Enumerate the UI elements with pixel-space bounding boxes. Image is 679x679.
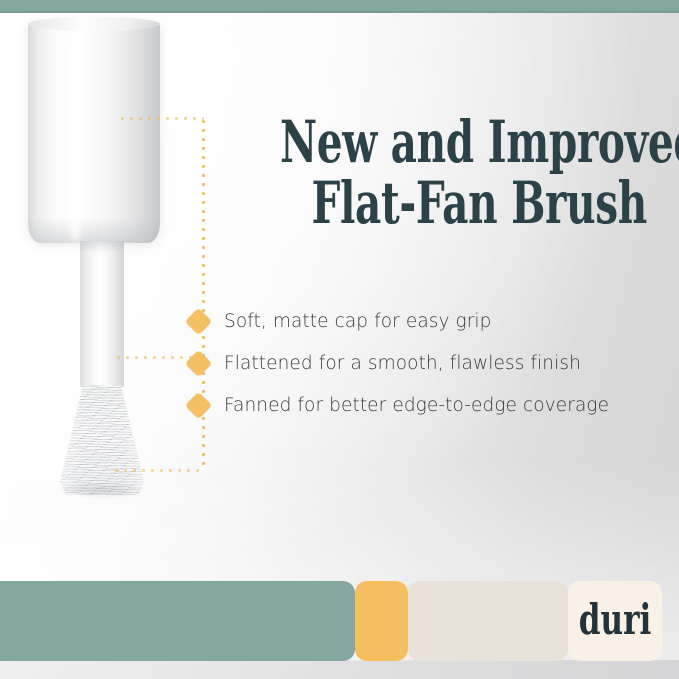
list-item: Fanned for better edge-to-edge coverage: [189, 384, 659, 426]
feature-text: Flattened for a smooth, flawless finish: [224, 353, 581, 374]
bottom-color-bar: duri: [0, 581, 679, 661]
cream-logo-segment: duri: [568, 581, 662, 661]
amber-segment: [355, 581, 408, 661]
feature-list: Soft, matte cap for easy grip Flattened …: [189, 300, 659, 426]
duri-logo: duri: [579, 599, 652, 643]
beige-segment: [408, 581, 568, 661]
page-title: New and Improved Flat-Fan Brush: [280, 116, 546, 231]
list-item: Flattened for a smooth, flawless finish: [189, 342, 659, 384]
cap-top-ellipse: [28, 17, 160, 31]
cap-bottom-shading: [28, 217, 160, 243]
headline-line-1: New and Improved: [280, 116, 660, 169]
cap-highlight: [62, 35, 88, 241]
brush-stem: [80, 241, 124, 387]
leader-line-cap: [118, 117, 204, 120]
bristles-highlight: [52, 385, 152, 495]
feature-text: Fanned for better edge-to-edge coverage: [224, 395, 609, 416]
product-image: [0, 13, 260, 513]
diamond-bullet-icon: [185, 308, 212, 335]
headline-line-2: Flat-Fan Brush: [280, 177, 679, 230]
feature-text: Soft, matte cap for easy grip: [224, 311, 492, 332]
bristles-tip-shadow: [58, 481, 146, 499]
diamond-bullet-icon: [185, 350, 212, 377]
list-item: Soft, matte cap for easy grip: [189, 300, 659, 342]
diamond-bullet-icon: [185, 392, 212, 419]
top-teal-rule: [0, 0, 679, 13]
bottom-background-strip: [0, 661, 679, 679]
leader-line-bristles: [112, 469, 204, 472]
promo-graphic: New and Improved Flat-Fan Brush Soft, ma…: [0, 0, 679, 679]
stem-shadow: [80, 241, 124, 253]
bottle-cap: [28, 21, 160, 243]
teal-segment: [0, 581, 355, 661]
